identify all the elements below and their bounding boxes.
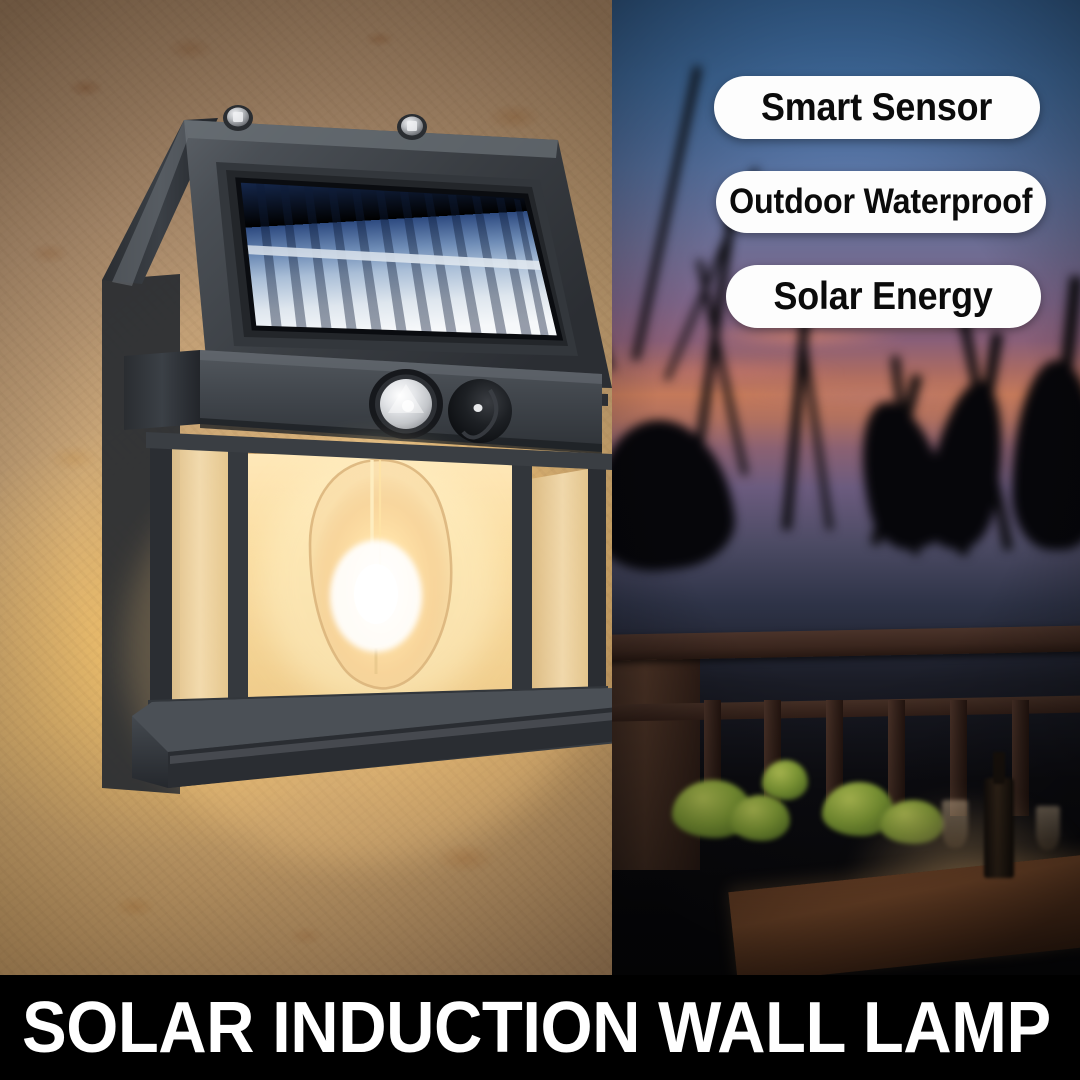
solar-panel <box>238 180 560 338</box>
right-vignette <box>612 0 1080 975</box>
solar-wall-lamp <box>88 88 612 828</box>
banner-title: SOLAR INDUCTION WALL LAMP <box>22 987 1051 1069</box>
feature-pill-label: Outdoor Waterproof <box>729 182 1032 222</box>
mounting-screw-left <box>223 105 253 131</box>
pir-motion-sensor <box>369 369 443 439</box>
mounting-screw-right <box>397 114 427 140</box>
left-scene-wall <box>0 0 612 975</box>
light-sensor-button[interactable] <box>448 379 512 443</box>
lantern-cage <box>146 432 612 724</box>
bottom-banner: SOLAR INDUCTION WALL LAMP <box>0 975 1080 1080</box>
feature-pill-label: Smart Sensor <box>761 86 992 130</box>
right-scene-patio <box>612 0 1080 975</box>
feature-pill-smart-sensor[interactable]: Smart Sensor <box>714 76 1040 139</box>
feature-pill-solar-energy[interactable]: Solar Energy <box>726 265 1041 328</box>
product-image-canvas: Smart Sensor Outdoor Waterproof Solar En… <box>0 0 1080 1080</box>
feature-pill-label: Solar Energy <box>774 275 993 319</box>
feature-pill-outdoor-waterproof[interactable]: Outdoor Waterproof <box>716 171 1046 233</box>
